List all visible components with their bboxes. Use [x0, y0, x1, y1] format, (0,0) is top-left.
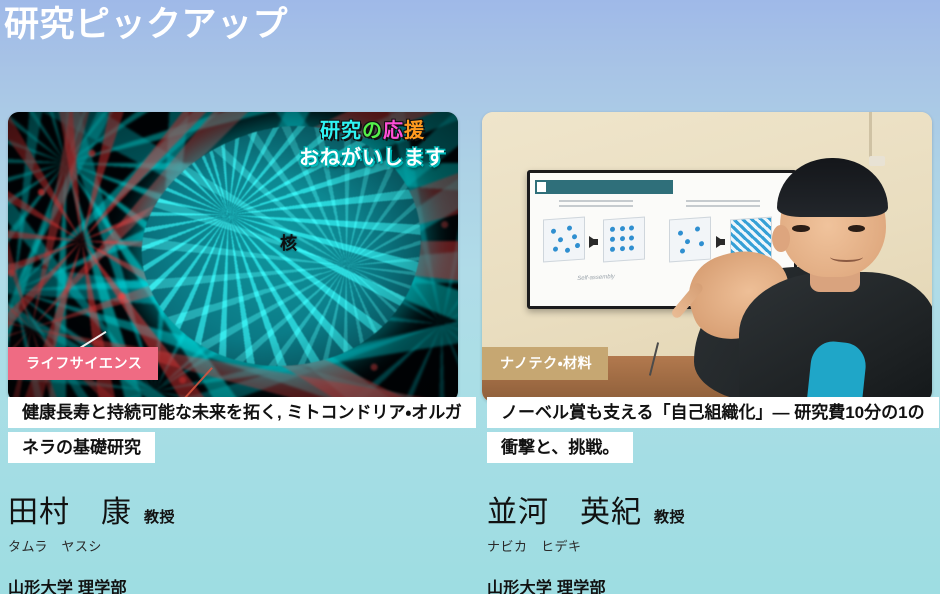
shirt-collar-shape: [807, 339, 868, 402]
researcher-info: 並河 英紀 教授 ナビカ ヒデキ 山形大学 理学部: [474, 496, 940, 594]
research-card-grid: 研究の応援 おねがいします 核 小胞体 ライフサイエンス 健康長寿と持続可能な未…: [0, 112, 940, 594]
researcher-photo-figure: [689, 153, 932, 402]
card-headline[interactable]: 健康長寿と持続可能な未来を拓く, ミトコンドリア・オルガネラの基礎研究: [0, 396, 466, 466]
researcher-name: 並河 英紀: [487, 496, 642, 529]
researcher-kana: ナビカ ヒデキ: [487, 536, 940, 555]
ear-shape: [772, 225, 790, 252]
researcher-kana: タムラ ヤスシ: [8, 536, 466, 555]
researcher-name-row: 田村 康 教授: [8, 496, 466, 529]
researcher-name-row: 並河 英紀 教授: [487, 496, 940, 529]
card-headline[interactable]: ノーベル賞も支える「自己組織化」― 研究費10分の1の衝撃と、挑戦。: [474, 396, 940, 466]
slide-caption-left: Self-assembly: [538, 272, 654, 284]
card-headline-text: ノーベル賞も支える「自己組織化」― 研究費10分の1の衝撃と、挑戦。: [487, 397, 939, 463]
category-badge[interactable]: ライフサイエンス: [8, 347, 158, 380]
support-part-no: の: [362, 120, 383, 142]
slide-diagram-left: Self-assembly: [538, 200, 654, 283]
card-image[interactable]: 研究の応援 おねがいします 核 小胞体 ライフサイエンス: [8, 112, 458, 402]
slide-heading-left-icon: [559, 200, 633, 211]
support-overlay-line2: おねがいします: [299, 145, 446, 172]
researcher-title: 教授: [654, 510, 685, 527]
support-part-en: 援: [404, 120, 425, 142]
researcher-info: 田村 康 教授 タムラ ヤスシ 山形大学 理学部: [0, 496, 466, 594]
hair-shape: [777, 158, 888, 218]
transform-arrow-icon: [589, 236, 598, 248]
researcher-name: 田村 康: [8, 496, 132, 529]
support-part-ou: 応: [383, 120, 404, 142]
card-image[interactable]: Self-assembly: [482, 112, 932, 402]
card-headline-text: 健康長寿と持続可能な未来を拓く, ミトコンドリア・オルガネラの基礎研究: [8, 397, 476, 463]
researcher-title: 教授: [144, 510, 175, 527]
nucleus-label: 核: [280, 229, 297, 254]
slide-panel-after-left: [603, 216, 645, 262]
slide-panel-before-left: [543, 216, 585, 262]
researcher-affiliation: 山形大学 理学部: [8, 574, 466, 594]
research-card[interactable]: 研究の応援 おねがいします 核 小胞体 ライフサイエンス 健康長寿と持続可能な未…: [0, 112, 466, 594]
support-part-kenkyuu: 研究: [320, 120, 362, 142]
research-card[interactable]: Self-assembly: [474, 112, 940, 594]
researcher-affiliation: 山形大学 理学部: [487, 574, 940, 594]
support-overlay-line1: 研究の応援: [299, 118, 446, 145]
category-badge[interactable]: ナノテク・材料: [482, 347, 608, 380]
particle-dots-scattered: [544, 217, 584, 261]
slide-title-bar: [535, 180, 672, 195]
page-title: 研究ピックアップ: [4, 3, 288, 47]
particle-dots-ordered: [604, 217, 644, 261]
support-overlay-text: 研究の応援 おねがいします: [299, 118, 446, 172]
